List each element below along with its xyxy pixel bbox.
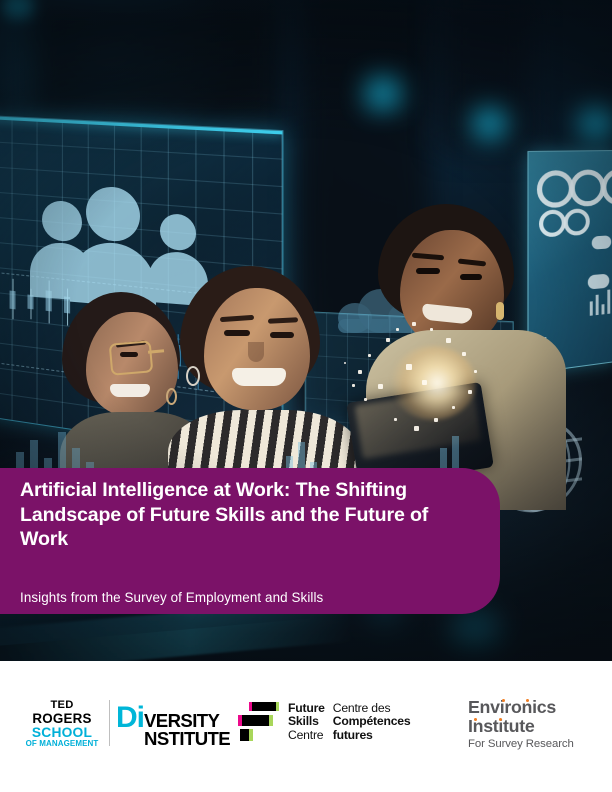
particle	[422, 380, 427, 385]
nose	[248, 342, 264, 362]
donut-chart-icon	[537, 170, 574, 208]
person-head	[86, 185, 140, 243]
fsc-en-line-3: Centre	[288, 729, 325, 742]
mini-bar	[602, 304, 605, 314]
logo-divider	[109, 700, 110, 746]
logo-future-skills-centre: Future Skills Centre Centre des Compéten…	[238, 702, 410, 742]
particle	[386, 338, 390, 342]
future-skills-centre-french: Centre des Compétences futures	[333, 702, 411, 742]
eye	[224, 330, 250, 336]
earring	[186, 366, 200, 386]
fsc-fr-line-3: futures	[333, 729, 411, 742]
mark-bar-black	[242, 715, 269, 726]
environics-line-1: Environics	[468, 699, 574, 717]
diversity-institute-line-1: VERSITY	[144, 712, 230, 730]
report-cover-page: Artificial Intelligence at Work: The Shi…	[0, 0, 612, 792]
person-head	[160, 213, 196, 252]
background-block	[30, 0, 280, 120]
donut-chart-icon	[564, 208, 590, 236]
title-banner: Artificial Intelligence at Work: The Shi…	[0, 468, 500, 614]
diversity-institute-line-2: NSTITUTE	[144, 730, 230, 748]
page-subtitle: Insights from the Survey of Employment a…	[20, 589, 472, 606]
donut-chart-icon	[570, 169, 606, 207]
particle	[406, 364, 412, 370]
mini-bar	[607, 290, 610, 314]
i-dot-orange	[474, 718, 477, 721]
environics-line-2: Institute	[468, 718, 574, 736]
person-head	[42, 199, 82, 242]
diversity-institute-lockup: Di VERSITY NSTITUTE	[116, 704, 230, 747]
cloud-icon	[588, 274, 609, 290]
i-dot-orange	[499, 718, 502, 721]
mini-bar	[590, 301, 593, 316]
ted-rogers-line-3: SCHOOL	[24, 726, 100, 740]
future-skills-centre-english: Future Skills Centre	[288, 702, 325, 742]
glow-square	[580, 108, 612, 138]
mouth	[110, 384, 150, 397]
environics-tagline: For Survey Research	[468, 739, 574, 750]
fsc-fr-line-2: Compétences	[333, 715, 411, 728]
logo-ted-rogers-school-of-management: TED ROGERS SCHOOL OF MANAGEMENT	[24, 700, 100, 748]
future-skills-centre-mark-icon	[238, 702, 280, 742]
logo-environics-institute: Environics Institute For Survey Research	[468, 699, 574, 750]
diversity-institute-prefix: Di	[116, 704, 144, 732]
particle	[364, 398, 367, 401]
mark-bar-black	[240, 729, 249, 741]
fsc-en-line-1: Future	[288, 702, 325, 715]
mark-bar-green	[276, 702, 279, 711]
ted-rogers-line-2: ROGERS	[24, 712, 100, 726]
glow-square	[452, 612, 498, 646]
glow-square	[3, 0, 33, 18]
fsc-en-line-2: Skills	[288, 715, 325, 728]
particle	[344, 362, 346, 364]
diversity-institute-words: VERSITY NSTITUTE	[144, 712, 230, 747]
particle	[468, 390, 472, 394]
glasses-lens	[109, 340, 154, 376]
donut-chart-icon	[602, 169, 612, 206]
candle-body	[10, 291, 16, 310]
particle-burst	[338, 318, 498, 448]
environics-line-1-text: Environics	[468, 697, 556, 717]
particle	[368, 354, 371, 357]
particle	[446, 338, 451, 343]
particle	[396, 328, 399, 331]
particle	[452, 406, 455, 409]
particle	[434, 418, 438, 422]
particle	[412, 322, 416, 326]
ted-rogers-line-4: OF MANAGEMENT	[24, 740, 100, 748]
eye	[416, 268, 440, 274]
logo-diversity-institute: Di VERSITY NSTITUTE	[116, 704, 230, 744]
eye	[460, 274, 482, 280]
particle	[474, 370, 477, 373]
glow-square	[366, 76, 400, 108]
burst-core	[390, 346, 476, 420]
particle	[394, 418, 397, 421]
glow-square	[474, 108, 506, 138]
particle	[358, 370, 362, 374]
particle	[414, 426, 419, 431]
mouth	[232, 368, 286, 386]
mark-bar-green	[269, 715, 273, 726]
particle	[430, 328, 433, 331]
particle	[462, 352, 466, 356]
mark-bar-green	[249, 729, 253, 741]
particle	[352, 384, 355, 387]
fsc-fr-line-1: Centre des	[333, 702, 411, 715]
page-title: Artificial Intelligence at Work: The Shi…	[20, 478, 472, 552]
mark-bar-black	[252, 702, 276, 711]
mini-bar	[596, 295, 599, 316]
eye	[270, 332, 294, 338]
cloud-icon	[592, 235, 611, 249]
ted-rogers-line-1: TED	[24, 700, 100, 712]
particle	[378, 384, 383, 389]
